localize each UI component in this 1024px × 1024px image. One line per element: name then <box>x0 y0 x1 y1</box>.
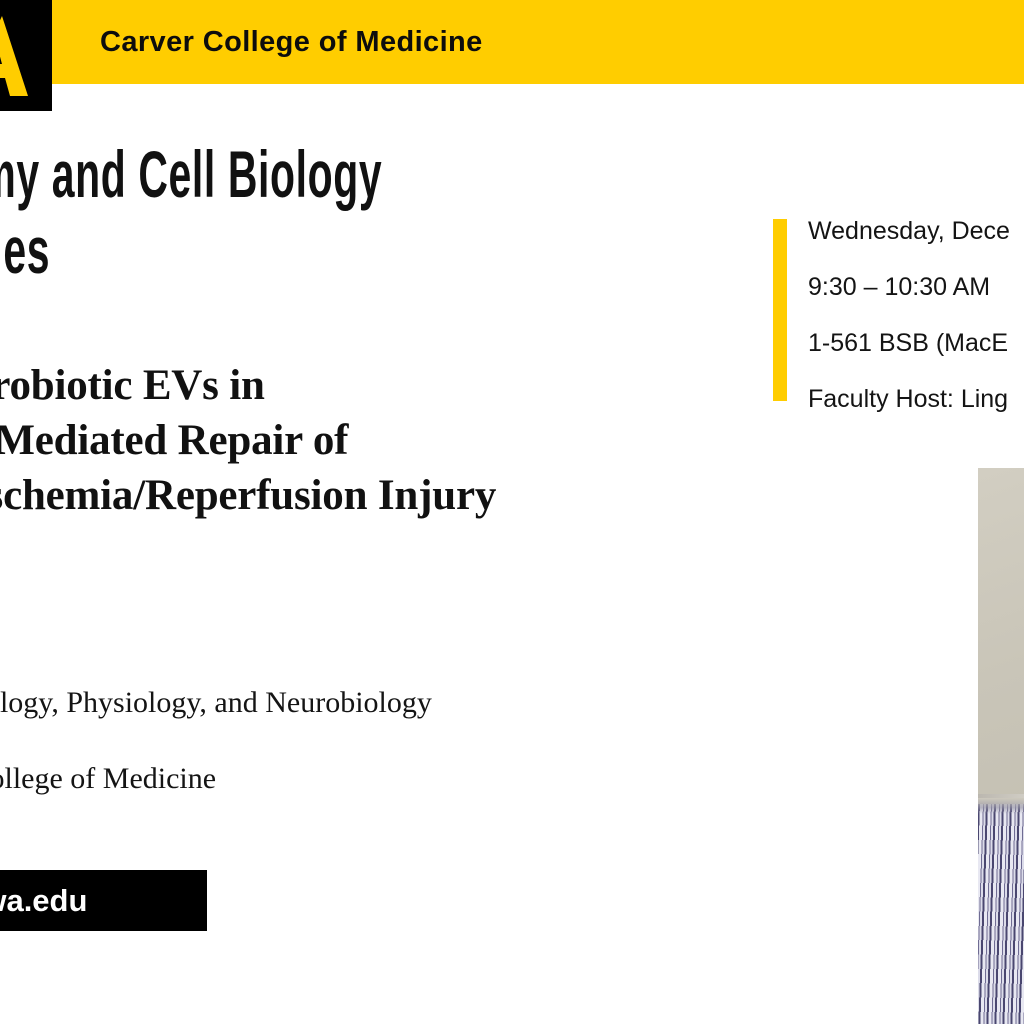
event-location: 1-561 BSB (MacE <box>808 328 1024 358</box>
speaker-department: Pharmacology, Physiology, and Neurobiolo… <box>0 685 760 721</box>
event-poster: Carver College of Medicine of Anatomy an… <box>0 0 1024 1024</box>
iowa-hawkeye-logo-icon <box>0 12 50 100</box>
talk-title-line-1: and Probiotic EVs in <box>0 358 760 413</box>
header-title: Carver College of Medicine <box>100 0 483 84</box>
portrait-backdrop <box>978 468 1024 812</box>
event-date: Wednesday, Dece <box>808 216 1024 246</box>
portrait-shoulder-shadow <box>978 798 1024 814</box>
talk-title-line-3: Ischemia/Reperfusion Injury <box>0 468 760 523</box>
event-faculty-host: Faculty Host: Ling <box>808 384 1024 414</box>
speaker-portrait-photo <box>978 468 1024 1024</box>
department-heading: of Anatomy and Cell Biology nar Series <box>0 138 740 290</box>
header-band: Carver College of Medicine <box>0 0 1024 84</box>
speaker-name: an, PhD <box>0 608 760 644</box>
talk-title: and Probiotic EVs in tosis-Mediated Repa… <box>0 358 760 523</box>
url-banner[interactable]: e.uiowa.edu <box>0 870 207 931</box>
speaker-institution: Cincinnati College of Medicine <box>0 761 760 797</box>
portrait-striped-shirt <box>978 804 1024 1024</box>
info-accent-bar <box>773 219 787 401</box>
event-info-panel: Wednesday, Dece 9:30 – 10:30 AM 1-561 BS… <box>773 219 1024 419</box>
department-heading-line-1: of Anatomy and Cell Biology <box>0 138 387 210</box>
speaker-block: an, PhD Pharmacology, Physiology, and Ne… <box>0 608 760 797</box>
event-info-lines: Wednesday, Dece 9:30 – 10:30 AM 1-561 BS… <box>808 216 1024 414</box>
talk-title-line-2: tosis-Mediated Repair of <box>0 413 760 468</box>
department-heading-line-2: nar Series <box>0 210 400 290</box>
url-banner-text: e.uiowa.edu <box>0 870 87 931</box>
event-time: 9:30 – 10:30 AM <box>808 272 1024 302</box>
logo-block <box>0 0 52 111</box>
